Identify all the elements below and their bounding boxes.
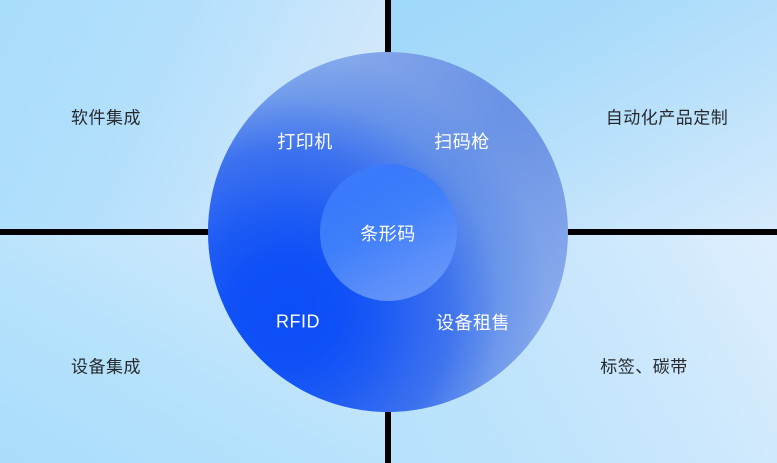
core-label-barcode: 条形码: [360, 220, 416, 246]
corner-label-device-integration: 设备集成: [71, 353, 141, 378]
segment-label-scanner: 扫码枪: [434, 128, 490, 154]
corner-label-labels-ribbons: 标签、碳带: [600, 353, 688, 378]
segment-label-rental: 设备租售: [436, 309, 510, 335]
corner-label-software-integration: 软件集成: [71, 104, 141, 129]
segment-label-printer: 打印机: [277, 128, 333, 154]
corner-label-automation-customizing: 自动化产品定制: [606, 104, 729, 129]
segment-label-rfid: RFID: [276, 312, 320, 333]
diagram-canvas: 打印机 扫码枪 RFID 设备租售 条形码 软件集成 自动化产品定制 设备集成 …: [0, 0, 777, 463]
